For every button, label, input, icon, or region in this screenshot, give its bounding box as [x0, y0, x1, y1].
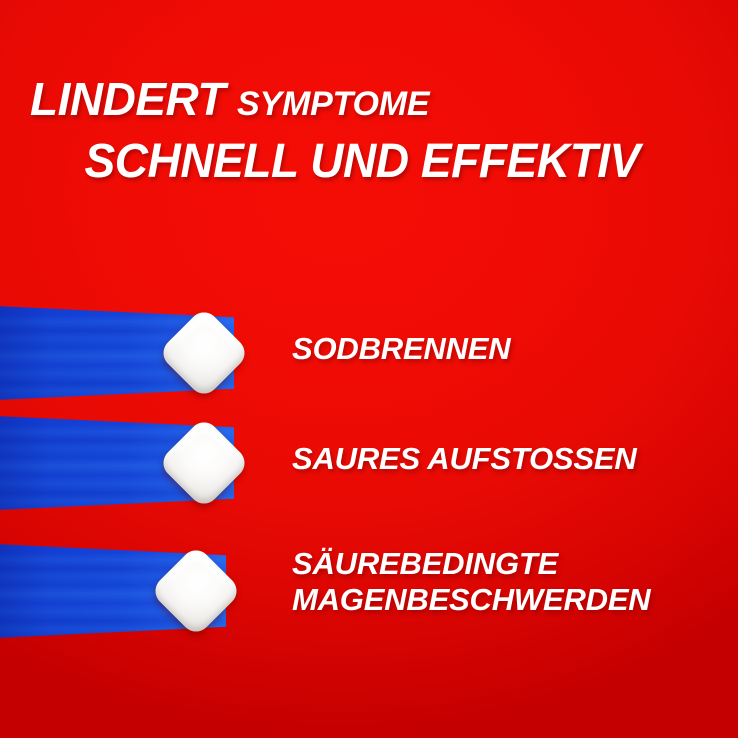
headline-line-1: LINDERTSYMPTOME: [0, 76, 738, 122]
headline-block: LINDERTSYMPTOME SCHNELL UND EFFEKTIV: [0, 76, 738, 186]
headline-line-2: SCHNELL UND EFFEKTIV: [0, 138, 708, 186]
benefit-row-saeurebedingte-magenbeschwerden: SÄUREBEDINGTE MAGENBESCHWERDEN: [0, 528, 738, 648]
benefit-label: SODBRENNEN: [292, 331, 510, 367]
headline-word-lindert: LINDERT: [30, 73, 225, 125]
headline-word-symptome: SYMPTOME: [237, 85, 429, 123]
benefit-label: SÄUREBEDINGTE MAGENBESCHWERDEN: [292, 546, 650, 618]
promotional-banner: LINDERTSYMPTOME SCHNELL UND EFFEKTIV SOD…: [0, 0, 738, 738]
benefit-row-saures-aufstossen: SAURES AUFSTOSSEN: [0, 410, 738, 516]
benefit-row-sodbrennen: SODBRENNEN: [0, 300, 738, 406]
benefit-label: SAURES AUFSTOSSEN: [292, 441, 637, 477]
